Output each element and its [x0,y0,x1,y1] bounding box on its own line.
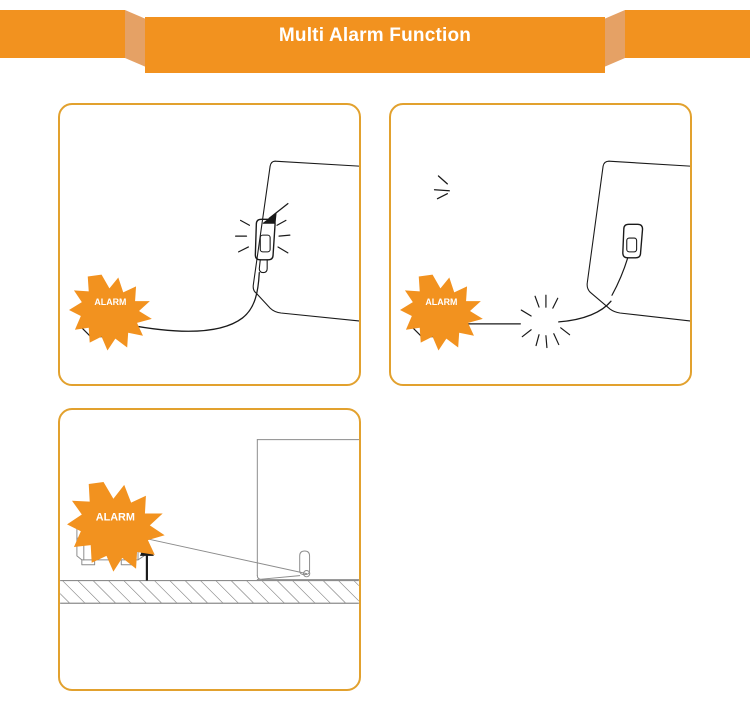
wall-panel [257,440,359,580]
sensor-flash-rays [236,220,290,253]
panel-2-illustration: ALARM [391,105,690,384]
alarm-label: ALARM [94,297,126,307]
connection-cable [454,301,611,324]
panel-cable-cut-alarm: ALARM [389,103,692,386]
alarm-label: ALARM [96,511,135,523]
missing-signal-mark [435,176,450,199]
pointer-arrow [263,204,288,224]
header-ribbon-graphic [0,0,750,90]
sensor-probe [612,224,643,295]
alarm-label: ALARM [425,297,457,307]
floor-sensor [257,551,309,580]
hatched-floor [60,581,359,604]
ribbon-right-tail [625,10,750,58]
ribbon-left-tail [0,10,125,58]
sensor-link-line [135,536,307,573]
panel-1-illustration: ALARM [60,105,359,384]
alarm-starburst: ALARM [69,275,152,351]
wall-outline [587,161,690,321]
panel-3-illustration: ALARM [60,410,359,689]
panel-unit-lifted-alarm: ALARM [58,408,361,691]
alarm-starburst: ALARM [67,482,165,572]
panel-sensor-detached-alarm: ALARM [58,103,361,386]
header-banner: Multi Alarm Function [0,0,750,90]
ribbon-center-band [145,17,605,73]
wall-outline [253,161,359,321]
alarm-starburst: ALARM [400,275,483,351]
